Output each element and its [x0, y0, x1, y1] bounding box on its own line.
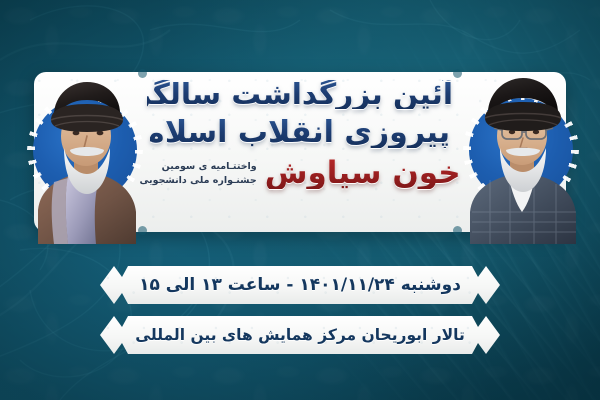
- event-poster: آئین بزرگداشت سالگرد پیروزی انقلاب اسلام…: [0, 0, 600, 400]
- subtitle-line-1: واختتـامیه ی سومین: [139, 160, 256, 174]
- portrait-medallion-right: [460, 62, 582, 244]
- title-line-1: آئین بزرگداشت سالگرد: [147, 80, 453, 109]
- title-line-2: پیروزی انقلاب اسلامی: [150, 118, 450, 148]
- title-text-block: آئین بزرگداشت سالگرد پیروزی انقلاب اسلام…: [150, 78, 450, 228]
- subtitle-text: واختتـامیه ی سومین جشنـواره ملی دانشجویی: [139, 160, 256, 188]
- subtitle-line-2: جشنـواره ملی دانشجویی: [139, 174, 256, 188]
- portrait-khamenei-image: [460, 62, 582, 244]
- highlight-title: خون سیاوش: [265, 158, 461, 189]
- venue-text: تالار ابوریحان مرکز همایش های بین المللی: [135, 326, 465, 344]
- venue-ribbon: تالار ابوریحان مرکز همایش های بین المللی: [100, 316, 500, 354]
- date-text: دوشنبه ۱۴۰۱/۱۱/۲۴ - ساعت ۱۳ الی ۱۵: [139, 275, 461, 295]
- date-ribbon: دوشنبه ۱۴۰۱/۱۱/۲۴ - ساعت ۱۳ الی ۱۵: [100, 266, 500, 304]
- subtitle-row: خون سیاوش واختتـامیه ی سومین جشنـواره مل…: [150, 158, 450, 189]
